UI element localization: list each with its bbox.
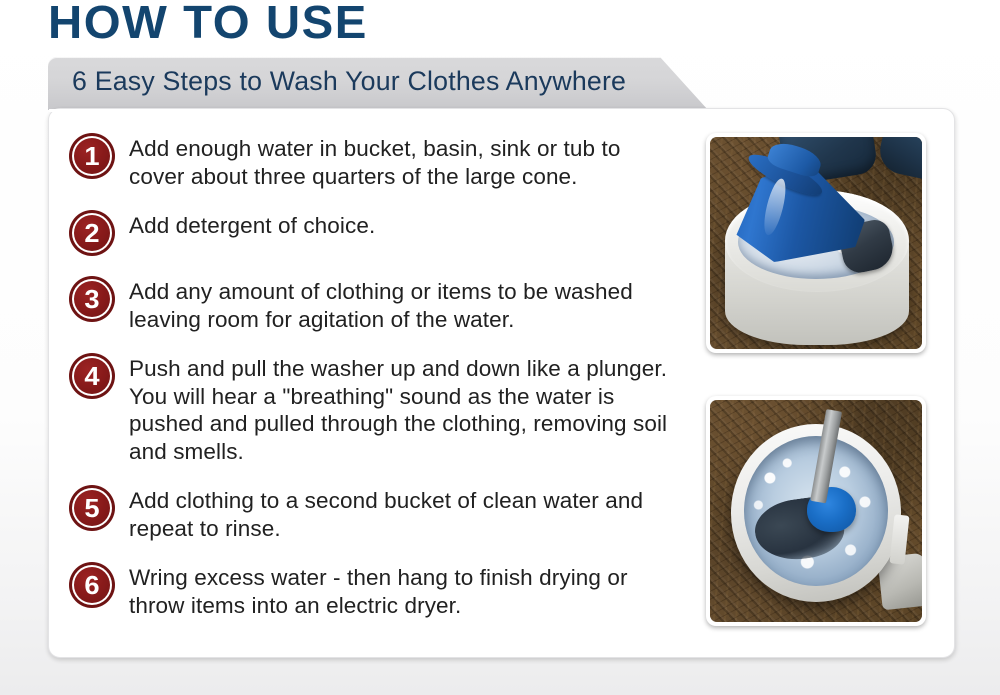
photo-frame [710, 137, 922, 349]
bucket-interior [744, 436, 888, 587]
step-text: Add detergent of choice. [129, 208, 375, 240]
step-number-badge: 5 [69, 485, 115, 531]
step-number: 1 [68, 133, 116, 179]
step-text: Add any amount of clothing or items to b… [129, 274, 669, 333]
steps-list: 1 Add enough water in bucket, basin, sin… [69, 131, 669, 619]
step-number: 6 [68, 562, 116, 608]
list-item: 4 Push and pull the washer up and down l… [69, 351, 669, 465]
step-number: 5 [68, 485, 116, 531]
step-number-badge: 4 [69, 353, 115, 399]
list-item: 5 Add clothing to a second bucket of cle… [69, 483, 669, 542]
step-text: Push and pull the washer up and down lik… [129, 351, 669, 465]
photo-frame [710, 400, 922, 622]
step-text: Add clothing to a second bucket of clean… [129, 483, 669, 542]
step-number-badge: 3 [69, 276, 115, 322]
blue-cone-washer [731, 141, 867, 277]
washer-submerged-in-bucket-photo [706, 396, 926, 626]
step-text: Add enough water in bucket, basin, sink … [129, 131, 669, 190]
banner-title: 6 Easy Steps to Wash Your Clothes Anywhe… [72, 66, 626, 97]
list-item: 3 Add any amount of clothing or items to… [69, 274, 669, 333]
step-number-badge: 2 [69, 210, 115, 256]
step-text: Wring excess water - then hang to finish… [129, 560, 669, 619]
step-number: 2 [68, 210, 116, 256]
list-item: 2 Add detergent of choice. [69, 208, 669, 256]
step-number: 3 [68, 276, 116, 322]
content-panel: 1 Add enough water in bucket, basin, sin… [48, 108, 955, 658]
blue-cone-washer-over-bucket-photo [706, 133, 926, 353]
step-number-badge: 6 [69, 562, 115, 608]
step-number-badge: 1 [69, 133, 115, 179]
list-item: 1 Add enough water in bucket, basin, sin… [69, 131, 669, 190]
step-number: 4 [68, 353, 116, 399]
page-title: HOW TO USE [48, 0, 368, 48]
list-item: 6 Wring excess water - then hang to fini… [69, 560, 669, 619]
banner: 6 Easy Steps to Wash Your Clothes Anywhe… [48, 57, 708, 110]
